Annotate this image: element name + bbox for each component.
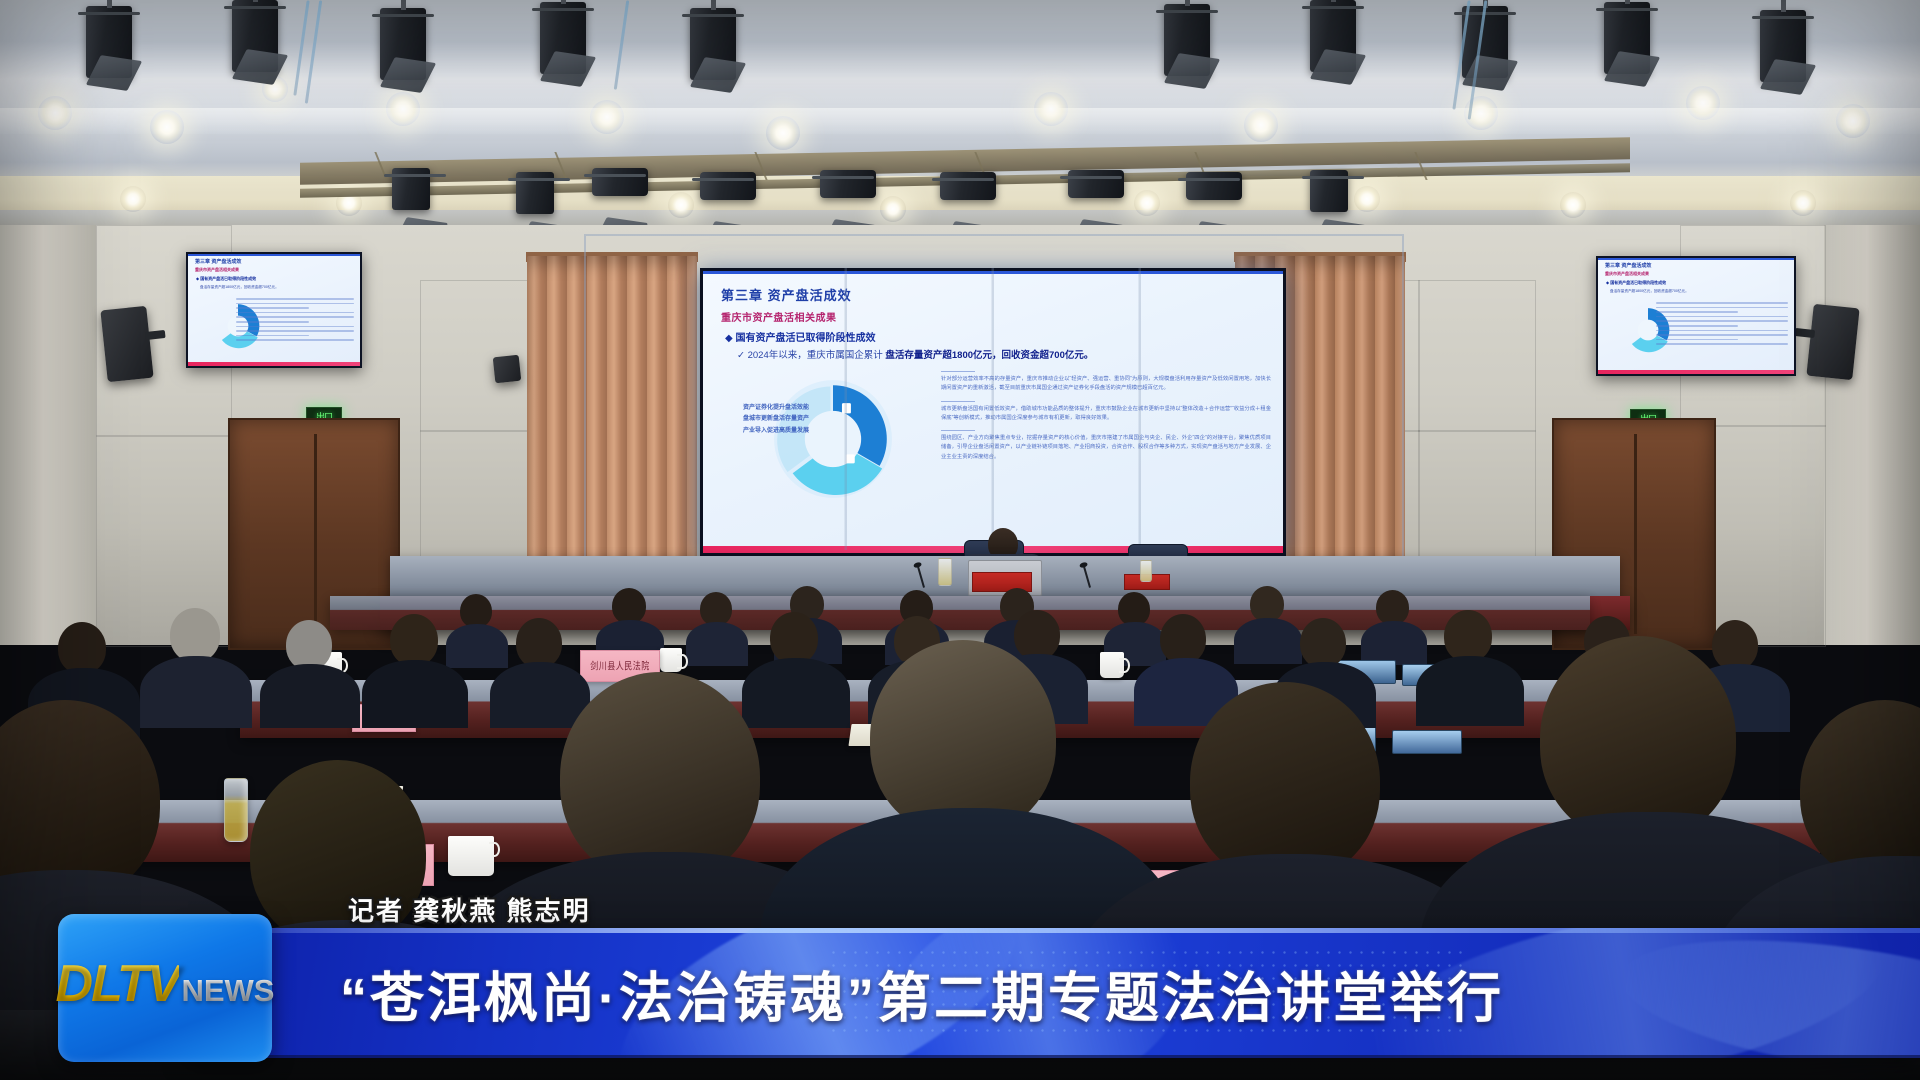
side-monitor-right: 第三章 资产盘活成效 重庆市资产盘活相关成果 ◆ 国有资产盘活已取得阶段性成效 … [1596, 256, 1796, 376]
slide-paragraph-2-text: 城市更新盘活国有闲置低效资产，借助城市功能品质的整体提升，重庆市鼓励企业在城市更… [941, 406, 1271, 421]
ceiling-light [668, 192, 694, 218]
wall-pillar [0, 225, 96, 645]
ceiling-light [1686, 86, 1720, 120]
stage-light-fixture [1604, 2, 1650, 74]
ceiling-light [880, 196, 906, 222]
main-presentation-screen: 第三章 资产盘活成效 重庆市资产盘活相关成果 ◆ 国有资产盘活已取得阶段性成效 … [700, 268, 1286, 556]
side-monitor-body-lines [236, 298, 354, 344]
slide-paragraph-3: 围绕园区、产业方向聚焦重点专业，挖掘存量资产的核心价值，重庆市搭建了市属国企与央… [941, 430, 1271, 462]
side-monitor-chapter: 第三章 资产盘活成效 [1605, 262, 1651, 269]
ceiling-band [0, 108, 1920, 134]
tea-cup [1100, 652, 1124, 678]
side-monitor-section: 重庆市资产盘活相关成果 [1605, 271, 1649, 277]
truss-spotlight [1310, 170, 1348, 212]
ceiling-light [1354, 186, 1380, 212]
wall-panel [420, 280, 540, 432]
truss-spotlight [820, 170, 876, 198]
ceiling-light [1560, 192, 1586, 218]
slide-paragraph-1: 针对部分运营效率不高的存量资产，重庆市推动企业以“轻资产、强运营、重协同”为原则… [941, 371, 1271, 394]
side-monitor-right-screen: 第三章 资产盘活成效 重庆市资产盘活相关成果 ◆ 国有资产盘活已取得阶段性成效 … [1598, 258, 1794, 374]
slide-bullet-main: ◆ 国有资产盘活已取得阶段性成效 [725, 329, 875, 344]
slide-donut-chart [769, 375, 897, 503]
stage-light-fixture [86, 6, 132, 78]
stage-light-fixture [380, 8, 426, 80]
wall-pillar [1824, 225, 1920, 645]
glass-tumbler [224, 778, 248, 842]
ceiling-light [1134, 190, 1160, 216]
slide-section-title: 重庆市资产盘活相关成果 [721, 309, 837, 324]
side-monitor-section: 重庆市资产盘活相关成果 [195, 267, 239, 273]
tea-cup [660, 648, 682, 672]
slide-bullet-sub-prefix: ✓ 2024年以来，重庆市属国企累计 [737, 350, 883, 361]
foreground-shadow-fill [0, 1010, 1920, 1080]
ceiling-light [1790, 190, 1816, 216]
stage-curtain-left [527, 256, 697, 556]
truss-spotlight [516, 172, 554, 214]
slide-surface: 第三章 资产盘活成效 重庆市资产盘活相关成果 ◆ 国有资产盘活已取得阶段性成效 … [703, 271, 1283, 553]
ceiling-light [766, 116, 800, 150]
side-monitor-bullet: ◆ 国有资产盘活已取得阶段性成效 [196, 276, 256, 282]
side-monitor-bullet: ◆ 国有资产盘活已取得阶段性成效 [1606, 280, 1666, 286]
truss-spotlight [940, 172, 996, 200]
slide-bullet-sub: ✓ 2024年以来，重庆市属国企累计 盘活存量资产超1800亿元，回收资金超70… [737, 347, 1093, 361]
side-monitor-left-screen: 第三章 资产盘活成效 重庆市资产盘活相关成果 ◆ 国有资产盘活已取得阶段性成效 … [188, 254, 360, 366]
wall-camera-mount [493, 355, 522, 384]
side-monitor-subbullet: 盘活存量资产超1800亿元，回收资金超700亿元。 [200, 285, 279, 290]
water-bottle [938, 558, 952, 586]
wall-speaker-right [1806, 304, 1859, 380]
truss-spotlight [700, 172, 756, 200]
slide-chapter-title: 第三章 资产盘活成效 [721, 285, 852, 304]
conference-hall-scene: 出口 出口 第三章 资产盘活成效 重庆市资产盘活相关成果 ◆ 国有资产盘活已取得… [0, 0, 1920, 1080]
ceiling-light [150, 110, 184, 144]
slide-body-text: 针对部分运营效率不高的存量资产，重庆市推动企业以“轻资产、强运营、重协同”为原则… [941, 371, 1271, 469]
ceiling-light [120, 186, 146, 212]
stage-light-fixture [540, 2, 586, 74]
name-placard-text: 剑川县人民法院 [590, 659, 650, 673]
ceiling-light [38, 96, 72, 130]
water-bottle [1140, 560, 1152, 582]
ceiling-light [1244, 108, 1278, 142]
donut-label-3: 产业导入促进高质量发展 [717, 426, 835, 437]
side-monitor-subbullet: 盘活存量资产超1800亿元，回收资金超700亿元。 [1610, 289, 1689, 294]
slide-top-rule [703, 271, 1283, 274]
truss-spotlight [1068, 170, 1124, 198]
side-monitor-body-lines [1656, 302, 1788, 348]
side-monitor-left: 第三章 资产盘活成效 重庆市资产盘活相关成果 ◆ 国有资产盘活已取得阶段性成效 … [186, 252, 362, 368]
slide-paragraph-2: 城市更新盘活国有闲置低效资产，借助城市功能品质的整体提升，重庆市鼓励企业在城市更… [941, 401, 1271, 424]
ceiling-light [590, 100, 624, 134]
ceiling-light [386, 92, 420, 126]
slide-bullet-sub-highlight: 盘活存量资产超1800亿元，回收资金超700亿元。 [885, 350, 1093, 361]
broadcast-frame: 出口 出口 第三章 资产盘活成效 重庆市资产盘活相关成果 ◆ 国有资产盘活已取得… [0, 0, 1920, 1080]
donut-label-1: 资产证券化提升盘活效能 [717, 403, 835, 414]
stage-light-fixture [232, 0, 278, 72]
truss-spotlight [1186, 172, 1242, 200]
ceiling-light [1034, 92, 1068, 126]
truss-spotlight [392, 168, 430, 210]
tea-cup [448, 836, 494, 876]
side-monitor-chapter: 第三章 资产盘活成效 [195, 258, 241, 265]
stage-light-fixture [690, 8, 736, 80]
stage-light-fixture [1310, 0, 1356, 72]
stage-light-fixture [1164, 4, 1210, 76]
wall-panel [1418, 280, 1536, 432]
slide-paragraph-1-text: 针对部分运营效率不高的存量资产，重庆市推动企业以“轻资产、强运营、重协同”为原则… [941, 376, 1271, 391]
wall-speaker-left [100, 306, 153, 382]
slide-donut-labels: 资产证券化提升盘活效能 盘城市更新盘活存量资产 产业导入促进高质量发展 [717, 403, 835, 437]
stage-light-fixture [1760, 10, 1806, 82]
slide-paragraph-3-text: 围绕园区、产业方向聚焦重点专业，挖掘存量资产的核心价值，重庆市搭建了市属国企与央… [941, 435, 1271, 460]
audience-laptop [1392, 730, 1462, 754]
truss-spotlight [592, 168, 648, 196]
ceiling-light [1836, 104, 1870, 138]
donut-label-2: 盘城市更新盘活存量资产 [717, 414, 835, 425]
